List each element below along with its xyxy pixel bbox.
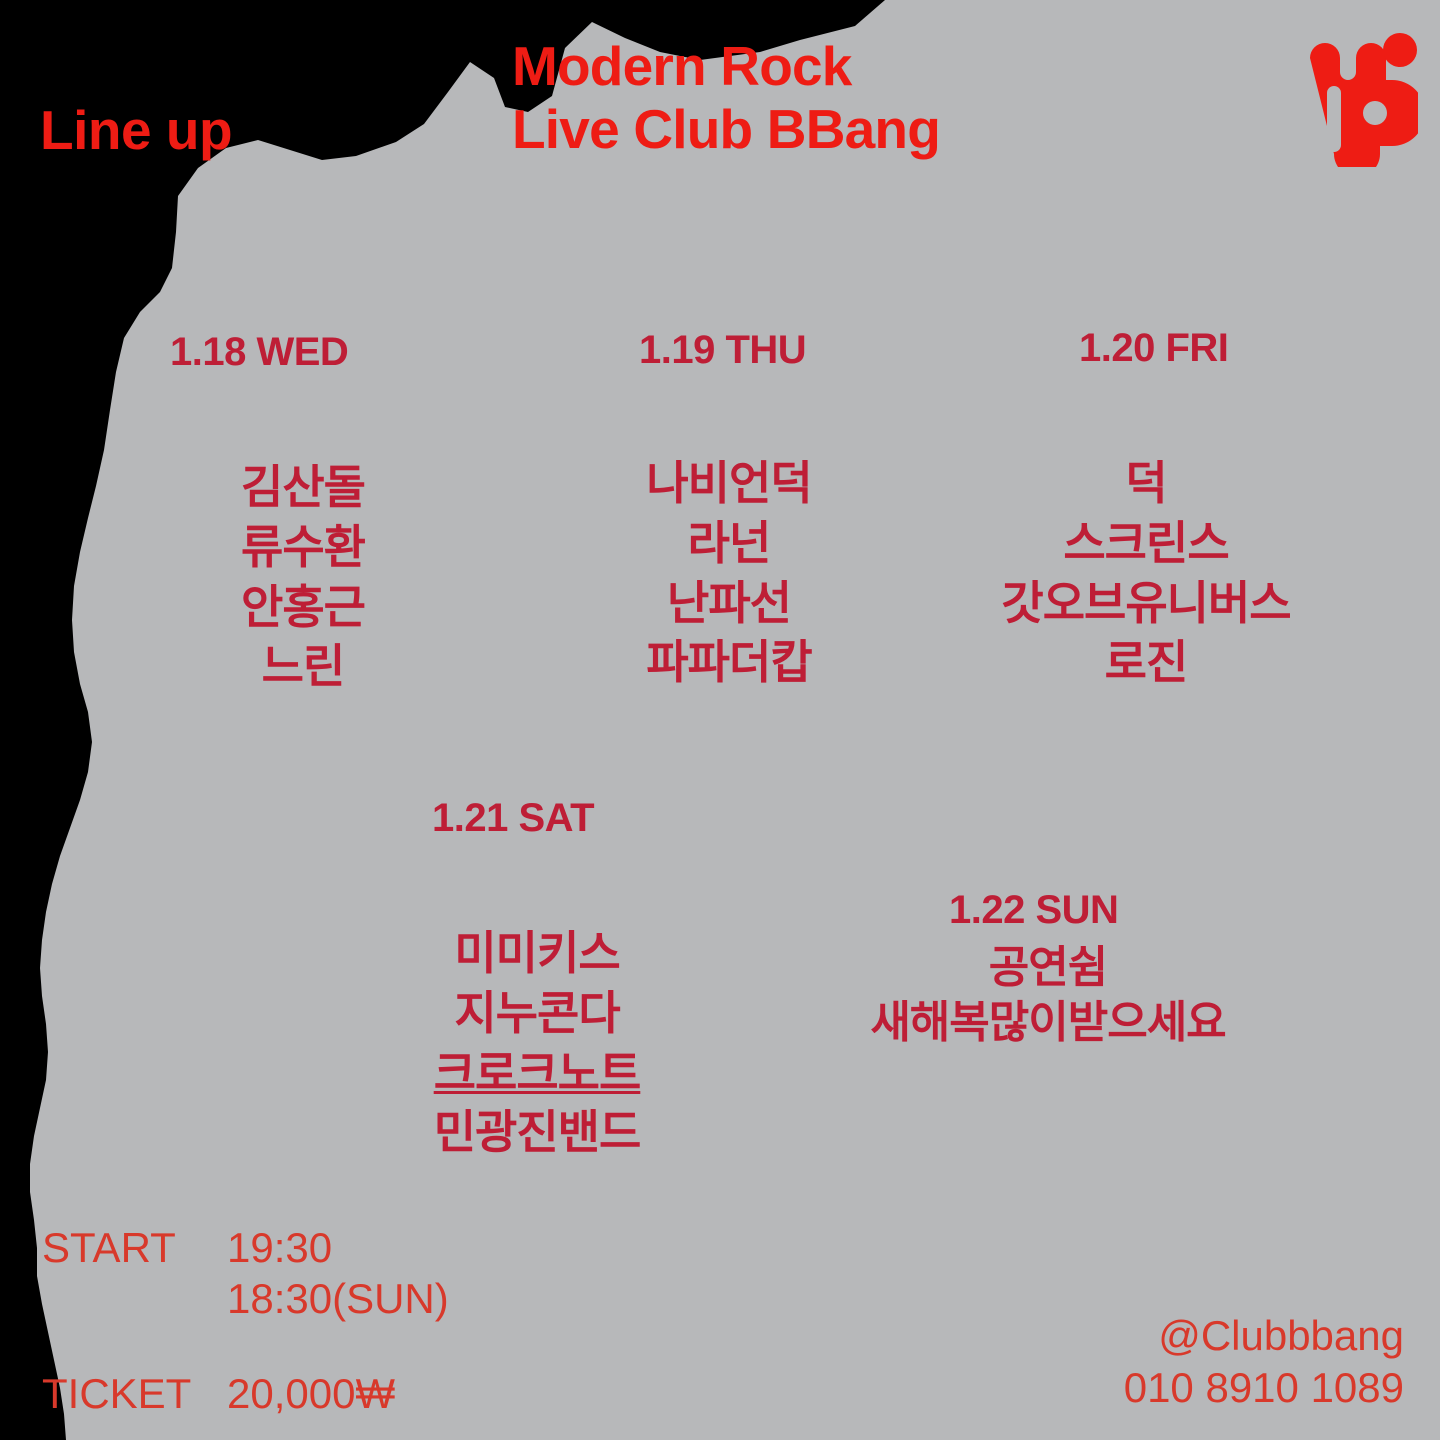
ticket-price: 20,000₩	[227, 1370, 395, 1418]
poster-root: Line up Modern Rock Live Club BBang 1.18…	[0, 0, 1440, 1440]
start-time-sunday: 18:30(SUN)	[227, 1273, 449, 1324]
act-item: 지누콘다	[422, 984, 652, 1044]
day-acts-sun: 공연쉼 새해복많이받으세요	[852, 940, 1244, 1051]
day-block-wed: 1.18 WED 김산돌 류수환 안홍근 느린	[170, 332, 403, 697]
day-acts-fri: 덕 스크린스 갓오브유니버스 로진	[991, 454, 1301, 693]
start-info: START 19:30 18:30(SUN)	[42, 1222, 449, 1324]
act-item: 파파더캅	[635, 633, 823, 693]
live-club-bbang-logo	[1296, 22, 1418, 167]
day-block-thu: 1.19 THU 나비언덕 라넌 난파선 파파더캅	[639, 330, 823, 693]
instagram-handle[interactable]: @Clubbbang	[1124, 1310, 1404, 1362]
day-date-fri: 1.20 FRI	[1079, 328, 1301, 368]
ticket-info: TICKET 20,000₩	[42, 1370, 395, 1418]
contact-info: @Clubbbang 010 8910 1089	[1124, 1310, 1404, 1414]
day-block-sun: 1.22 SUN 공연쉼 새해복많이받으세요	[949, 890, 1244, 1051]
act-item: 난파선	[635, 574, 823, 634]
act-item: 안홍근	[203, 578, 403, 638]
day-date-sat: 1.21 SAT	[432, 798, 652, 838]
act-item: 로진	[991, 633, 1301, 693]
ticket-label: TICKET	[42, 1370, 227, 1418]
start-time-primary: 19:30	[227, 1222, 449, 1273]
act-item: 공연쉼	[852, 940, 1244, 995]
lineup-heading: Line up	[40, 103, 232, 158]
day-acts-thu: 나비언덕 라넌 난파선 파파더캅	[635, 454, 823, 693]
act-item: 라넌	[635, 514, 823, 574]
act-item: 느린	[203, 637, 403, 697]
act-item: 나비언덕	[635, 454, 823, 514]
start-label: START	[42, 1227, 227, 1269]
act-item: 덕	[991, 454, 1301, 514]
day-date-thu: 1.19 THU	[639, 330, 823, 370]
act-item: 민광진밴드	[422, 1103, 652, 1163]
act-item: 갓오브유니버스	[991, 574, 1301, 634]
act-item: 미미키스	[422, 924, 652, 984]
event-title: Modern Rock Live Club BBang	[512, 35, 940, 160]
day-block-sat: 1.21 SAT 미미키스 지누콘다 크로크노트 민광진밴드	[432, 798, 652, 1163]
day-acts-sat: 미미키스 지누콘다 크로크노트 민광진밴드	[422, 924, 652, 1163]
phone-number[interactable]: 010 8910 1089	[1124, 1362, 1404, 1414]
day-acts-wed: 김산돌 류수환 안홍근 느린	[203, 458, 403, 697]
act-item: 김산돌	[203, 458, 403, 518]
poster-content: Line up Modern Rock Live Club BBang 1.18…	[0, 0, 1440, 1440]
act-item: 스크린스	[991, 514, 1301, 574]
day-block-fri: 1.20 FRI 덕 스크린스 갓오브유니버스 로진	[1079, 328, 1301, 693]
day-date-sun: 1.22 SUN	[949, 890, 1244, 930]
act-item: 크로크노트	[422, 1044, 652, 1104]
act-item: 새해복많이받으세요	[852, 995, 1244, 1050]
day-date-wed: 1.18 WED	[170, 332, 403, 372]
act-item: 류수환	[203, 518, 403, 578]
